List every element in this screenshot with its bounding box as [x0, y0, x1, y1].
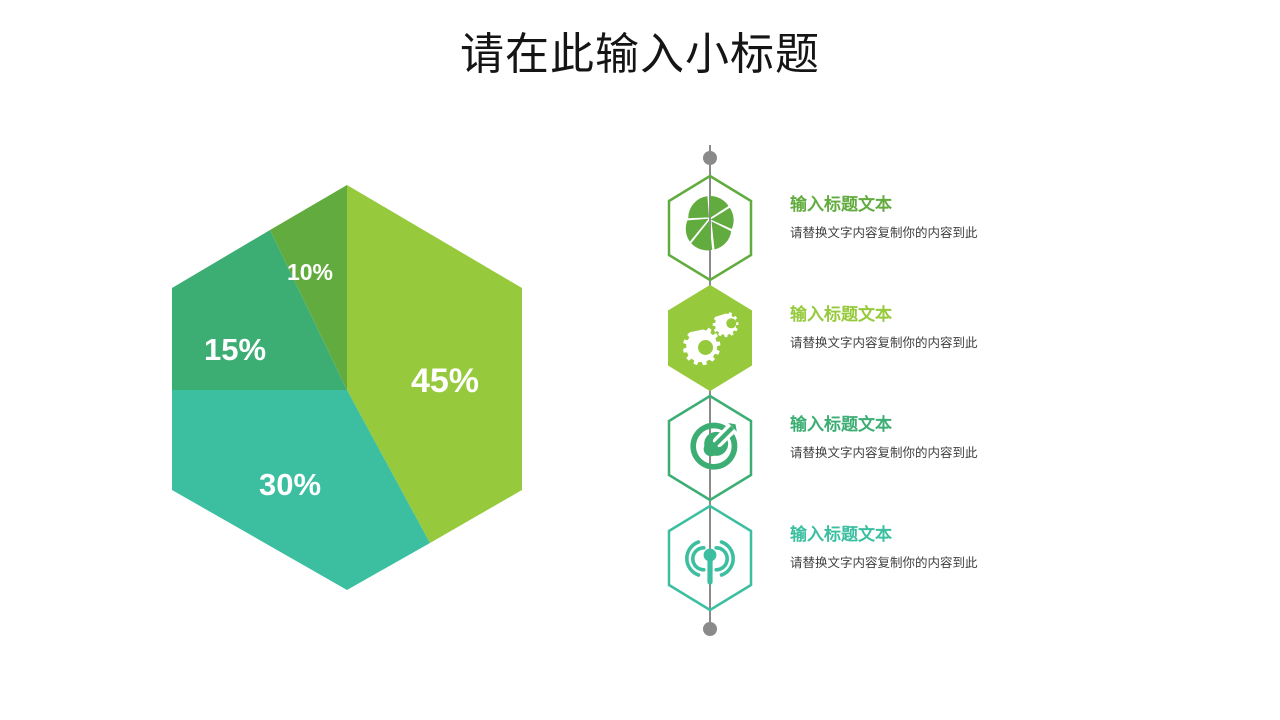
list-item-desc: 请替换文字内容复制你的内容到此: [790, 554, 1070, 572]
list-item-title: 输入标题文本: [790, 193, 1070, 217]
hex-badge-target[interactable]: [665, 393, 755, 503]
pie-chart-svg: 45% 30% 15% 10%: [150, 170, 550, 610]
list-item-desc: 请替换文字内容复制你的内容到此: [790, 444, 1070, 462]
list-item-desc: 请替换文字内容复制你的内容到此: [790, 224, 1070, 242]
hexagon-pie-chart: 45% 30% 15% 10%: [150, 170, 550, 610]
list-item-title: 输入标题文本: [790, 303, 1070, 327]
list-item-desc: 请替换文字内容复制你的内容到此: [790, 334, 1070, 352]
aperture-icon: [686, 196, 734, 250]
hex-badge-aperture[interactable]: [665, 173, 755, 283]
pie-label-30: 30%: [259, 467, 321, 502]
pie-label-45: 45%: [411, 362, 479, 400]
feature-list: 输入标题文本 请替换文字内容复制你的内容到此 输入标题文本 请替换文字内容复制你…: [660, 145, 1080, 645]
list-item[interactable]: 输入标题文本 请替换文字内容复制你的内容到此: [660, 503, 1080, 613]
list-item-text: 输入标题文本 请替换文字内容复制你的内容到此: [790, 413, 1070, 462]
broadcast-icon: [687, 542, 733, 582]
hex-badge-broadcast[interactable]: [665, 503, 755, 613]
list-item-title: 输入标题文本: [790, 413, 1070, 437]
list-item-text: 输入标题文本 请替换文字内容复制你的内容到此: [790, 523, 1070, 572]
list-item[interactable]: 输入标题文本 请替换文字内容复制你的内容到此: [660, 283, 1080, 393]
list-item-text: 输入标题文本 请替换文字内容复制你的内容到此: [790, 303, 1070, 352]
list-item-text: 输入标题文本 请替换文字内容复制你的内容到此: [790, 193, 1070, 242]
timeline-dot-bottom: [703, 622, 717, 636]
list-item-title: 输入标题文本: [790, 523, 1070, 547]
hex-badge-gears[interactable]: [665, 283, 755, 393]
list-item[interactable]: 输入标题文本 请替换文字内容复制你的内容到此: [660, 393, 1080, 503]
list-item[interactable]: 输入标题文本 请替换文字内容复制你的内容到此: [660, 173, 1080, 283]
pie-label-15: 15%: [204, 332, 266, 367]
target-icon: [690, 423, 737, 470]
page-title: 请在此输入小标题: [0, 26, 1280, 84]
pie-label-10: 10%: [287, 259, 333, 285]
timeline-dot-top: [703, 151, 717, 165]
